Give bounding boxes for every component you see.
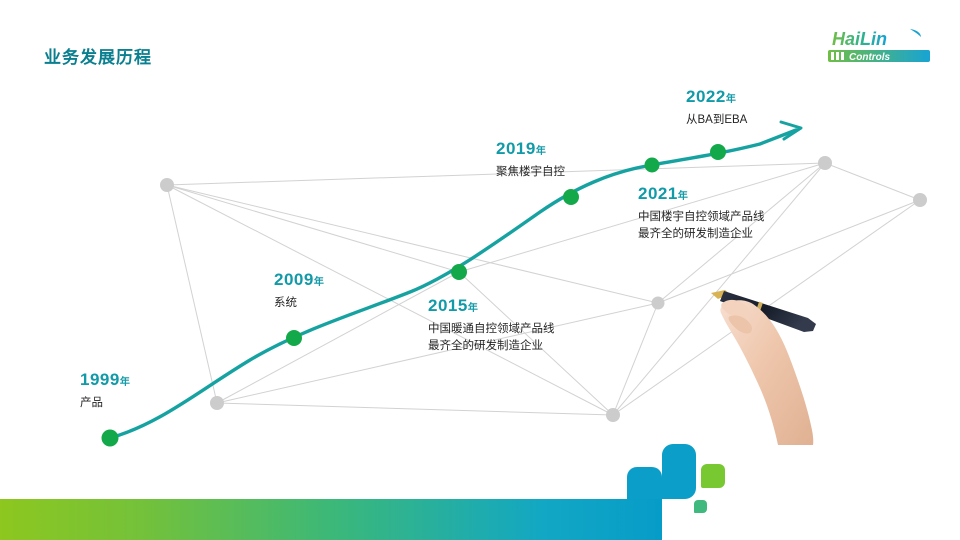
milestone-2021[interactable]: 2021年 中国楼宇自控领域产品线 最齐全的研发制造企业 xyxy=(638,185,765,243)
deco-square-green-small xyxy=(694,500,707,513)
milestone-2009[interactable]: 2009年 系统 xyxy=(274,271,324,312)
milestone-year: 1999年 xyxy=(80,371,130,390)
growth-curve xyxy=(110,130,796,438)
page-title: 业务发展历程 xyxy=(44,43,152,68)
milestone-desc: 中国暖通自控领域产品线 最齐全的研发制造企业 xyxy=(428,321,555,356)
milestone-desc: 聚焦楼宇自控 xyxy=(496,164,565,181)
milestone-dot-2015 xyxy=(451,264,467,280)
milestone-2019[interactable]: 2019年 聚焦楼宇自控 xyxy=(496,140,565,181)
milestone-2022[interactable]: 2022年 从BA到EBA xyxy=(686,88,747,129)
milestone-desc: 从BA到EBA xyxy=(686,112,747,129)
logo-sub-text: Controls xyxy=(849,52,891,63)
milestone-desc-line: 最齐全的研发制造企业 xyxy=(638,226,765,243)
milestone-dot-2019 xyxy=(563,189,579,205)
slide-canvas: 业务发展历程 HaiLin Controls 1999年 产品 xyxy=(0,0,960,540)
milestone-desc: 中国楼宇自控领域产品线 最齐全的研发制造企业 xyxy=(638,209,765,244)
milestone-1999[interactable]: 1999年 产品 xyxy=(80,371,130,412)
milestone-desc: 产品 xyxy=(80,395,130,412)
milestone-dot-2009 xyxy=(286,330,302,346)
milestone-year: 2021年 xyxy=(638,185,765,204)
milestone-desc-line: 中国楼宇自控领域产品线 xyxy=(638,209,765,226)
milestone-desc-line: 中国暖通自控领域产品线 xyxy=(428,321,555,338)
bottom-gradient-bar xyxy=(0,499,662,540)
milestone-2015[interactable]: 2015年 中国暖通自控领域产品线 最齐全的研发制造企业 xyxy=(428,297,555,355)
bottom-bar-notch xyxy=(627,467,662,499)
logo-brand-text: HaiLin xyxy=(832,29,887,49)
hand-holding-pen-photo xyxy=(700,280,885,445)
milestone-dot-2021 xyxy=(645,158,660,173)
milestone-dot-1999 xyxy=(102,430,119,447)
logo-bar-stripes xyxy=(831,52,844,60)
milestone-year: 2019年 xyxy=(496,140,565,159)
hailin-controls-logo: HaiLin Controls xyxy=(822,26,942,68)
milestone-year: 2009年 xyxy=(274,271,324,290)
milestone-year: 2022年 xyxy=(686,88,747,107)
deco-hook-shape xyxy=(662,444,696,499)
milestone-year: 2015年 xyxy=(428,297,555,316)
deco-square-green-large xyxy=(701,464,725,488)
milestone-desc-line: 最齐全的研发制造企业 xyxy=(428,338,555,355)
logo-leaf-icon xyxy=(910,29,921,37)
milestone-desc: 系统 xyxy=(274,295,324,312)
milestone-dot-2022 xyxy=(710,144,726,160)
background-network xyxy=(0,0,960,540)
